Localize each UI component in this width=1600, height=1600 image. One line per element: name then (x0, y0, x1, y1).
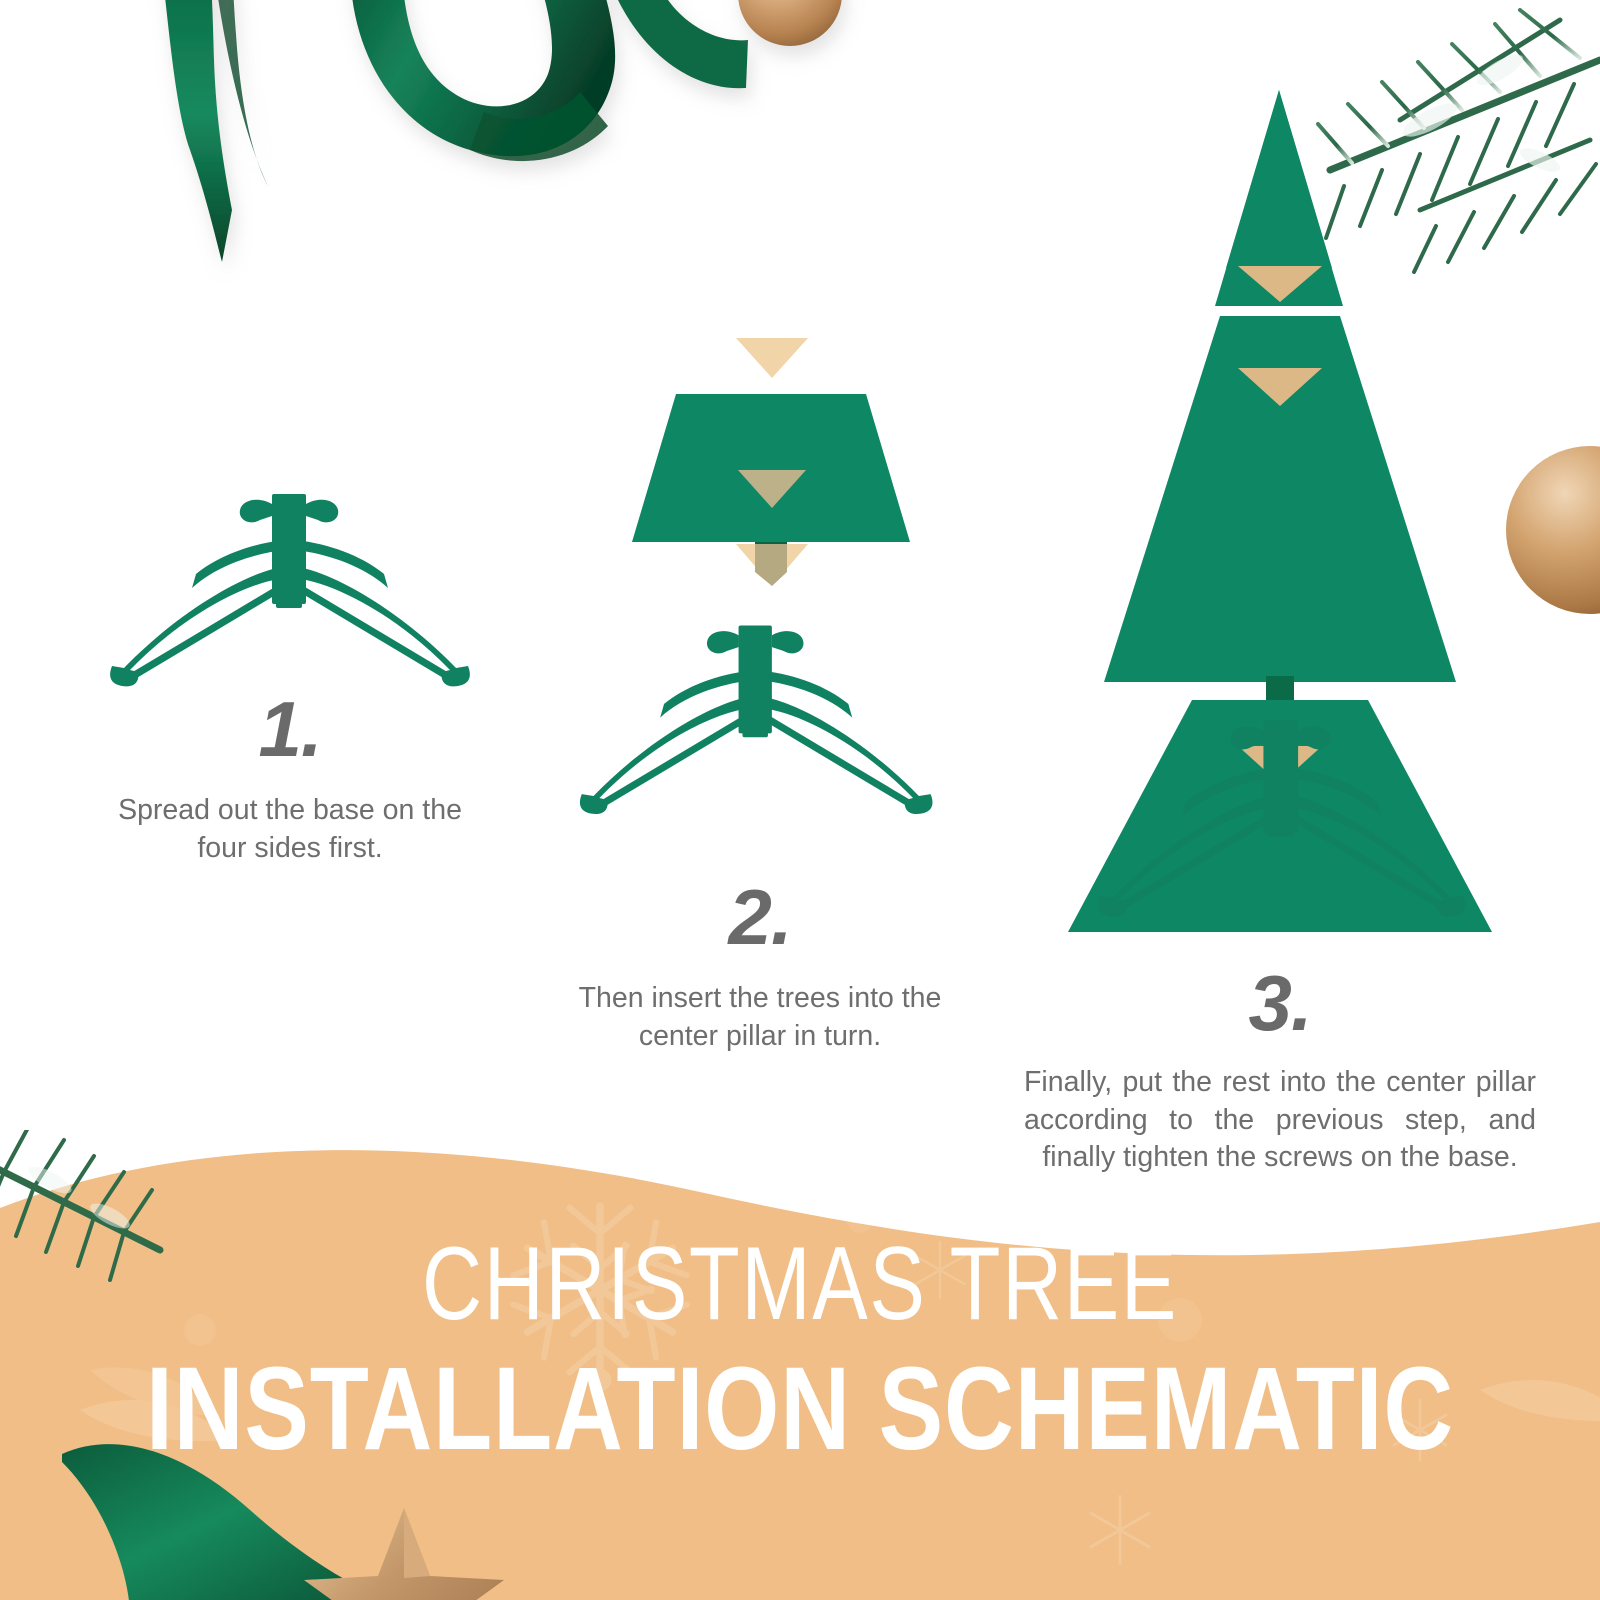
step-1-description: Spread out the base on the four sides fi… (60, 792, 520, 867)
step-1: 1. Spread out the base on the four sides… (60, 470, 520, 867)
tree-section (632, 394, 910, 542)
step-3: 3. Finally, put the rest into the center… (1000, 80, 1560, 1177)
tree-stand-base-icon (100, 470, 480, 690)
tree-section-and-base-icon (550, 330, 970, 860)
step-3-number: 3. (1000, 964, 1560, 1042)
step-2-description: Then insert the trees into the center pi… (520, 980, 1000, 1055)
step-2: 2. Then insert the trees into the center… (520, 330, 1000, 1055)
title-band: CHRISTMAS TREE INSTALLATION SCHEMATIC (0, 1130, 1600, 1600)
step-1-number: 1. (60, 690, 520, 768)
steps-container: 1. Spread out the base on the four sides… (0, 0, 1600, 1160)
title-line-2: INSTALLATION SCHEMATIC (144, 1348, 1456, 1471)
arrow-down-icon (736, 338, 808, 378)
step-2-number: 2. (520, 878, 1000, 956)
infographic-canvas: 1. Spread out the base on the four sides… (0, 0, 1600, 1600)
title-line-1: CHRISTMAS TREE (160, 1230, 1440, 1338)
assembled-tree-on-base-icon (1040, 80, 1520, 960)
